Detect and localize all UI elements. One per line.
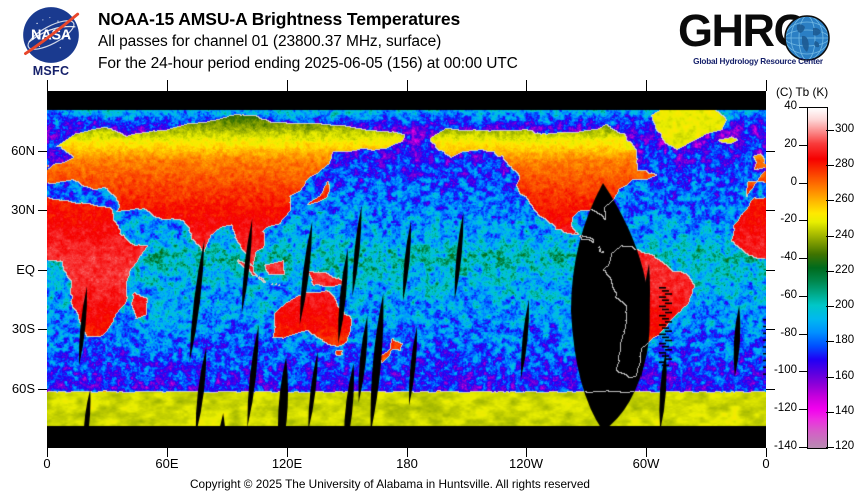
lat-tick — [766, 389, 775, 390]
lon-tick-label: 60W — [616, 456, 676, 471]
lon-tick — [526, 80, 527, 91]
lon-tick-label: 120E — [257, 456, 317, 471]
colorbar-tick-celsius — [799, 220, 807, 221]
brightness-temperature-map[interactable] — [47, 91, 766, 448]
colorbar-tick-celsius — [799, 107, 807, 108]
lat-tick — [38, 270, 47, 271]
colorbar-label-celsius: -120 — [764, 402, 797, 414]
colorbar-label-celsius: 0 — [764, 176, 797, 188]
colorbar-label-kelvin: 200 — [835, 299, 854, 311]
colorbar-label-kelvin: 140 — [835, 405, 854, 417]
colorbar-header-label: (C) Tb (K) — [776, 85, 828, 99]
colorbar-label-kelvin: 260 — [835, 193, 854, 205]
colorbar-label-kelvin: 240 — [835, 229, 854, 241]
colorbar-tick-celsius — [799, 296, 807, 297]
lon-tick-label: 0 — [17, 456, 77, 471]
colorbar-label-celsius: -140 — [764, 440, 797, 452]
lat-tick — [38, 210, 47, 211]
colorbar-label-kelvin: 160 — [835, 370, 854, 382]
lon-tick — [167, 80, 168, 91]
period-subtitle: For the 24-hour period ending 2025-06-05… — [98, 53, 518, 75]
colorbar-tick-kelvin — [826, 306, 834, 307]
map-raster — [47, 91, 766, 448]
lon-tick-label: 0 — [736, 456, 796, 471]
colorbar-tick-kelvin — [826, 271, 834, 272]
lat-tick — [766, 151, 775, 152]
nasa-center-label: MSFC — [12, 64, 90, 78]
nasa-meatball-icon: NASA — [22, 6, 80, 64]
lat-tick — [766, 270, 775, 271]
ghrc-full-name: Global Hydrology Resource Center — [680, 57, 836, 66]
colorbar-tick-celsius — [799, 334, 807, 335]
lon-tick — [47, 80, 48, 91]
lat-tick — [38, 329, 47, 330]
colorbar-tick-kelvin — [826, 130, 834, 131]
colorbar-label-kelvin: 280 — [835, 158, 854, 170]
colorbar-label-kelvin: 220 — [835, 264, 854, 276]
colorbar-tick-kelvin — [826, 412, 834, 413]
lat-tick-label: EQ — [0, 262, 35, 277]
colorbar-label-kelvin: 180 — [835, 334, 854, 346]
lon-tick — [766, 80, 767, 91]
lat-tick-label: 60N — [0, 143, 35, 158]
colorbar-tick-celsius — [799, 371, 807, 372]
colorbar-tick-kelvin — [826, 236, 834, 237]
lon-tick — [287, 80, 288, 91]
colorbar-tick-celsius — [799, 145, 807, 146]
colorbar-label-kelvin: 120 — [835, 440, 854, 452]
colorbar-gradient — [807, 107, 828, 449]
colorbar-tick-celsius — [799, 447, 807, 448]
colorbar-label-celsius: 40 — [764, 100, 797, 112]
lat-tick-label: 60S — [0, 381, 35, 396]
page-header: NASA MSFC NOAA-15 AMSU-A Brightness Temp… — [0, 0, 854, 88]
colorbar-label-celsius: -20 — [764, 213, 797, 225]
lon-tick — [646, 80, 647, 91]
colorbar-label-celsius: 20 — [764, 138, 797, 150]
lon-tick-label: 60E — [137, 456, 197, 471]
ghrc-logo: GHRC Global Hydrology Resource Center — [678, 5, 838, 77]
globe-icon — [782, 13, 832, 63]
lat-tick — [766, 210, 775, 211]
colorbar-tick-kelvin — [826, 200, 834, 201]
colorbar-label-kelvin: 300 — [835, 123, 854, 135]
colorbar-tick-kelvin — [826, 341, 834, 342]
lat-tick-label: 30S — [0, 321, 35, 336]
lat-tick-label: 30N — [0, 202, 35, 217]
lon-tick — [407, 80, 408, 91]
page-title: NOAA-15 AMSU-A Brightness Temperatures — [98, 8, 518, 31]
colorbar-label-celsius: -40 — [764, 251, 797, 263]
lat-tick — [38, 151, 47, 152]
colorbar-tick-celsius — [799, 258, 807, 259]
nasa-logo: NASA MSFC — [12, 6, 88, 82]
lon-tick-label: 180 — [377, 456, 437, 471]
colorbar-tick-celsius — [799, 409, 807, 410]
copyright-notice: Copyright © 2025 The University of Alaba… — [0, 477, 780, 491]
colorbar-label-celsius: -80 — [764, 327, 797, 339]
lat-tick — [38, 389, 47, 390]
colorbar-label-celsius: -100 — [764, 364, 797, 376]
channel-subtitle: All passes for channel 01 (23800.37 MHz,… — [98, 31, 518, 53]
colorbar-tick-kelvin — [826, 165, 834, 166]
lon-tick-label: 120W — [496, 456, 556, 471]
colorbar-label-celsius: -60 — [764, 289, 797, 301]
colorbar-tick-kelvin — [826, 377, 834, 378]
colorbar-tick-celsius — [799, 183, 807, 184]
title-block: NOAA-15 AMSU-A Brightness Temperatures A… — [98, 8, 518, 75]
colorbar-tick-kelvin — [826, 447, 834, 448]
